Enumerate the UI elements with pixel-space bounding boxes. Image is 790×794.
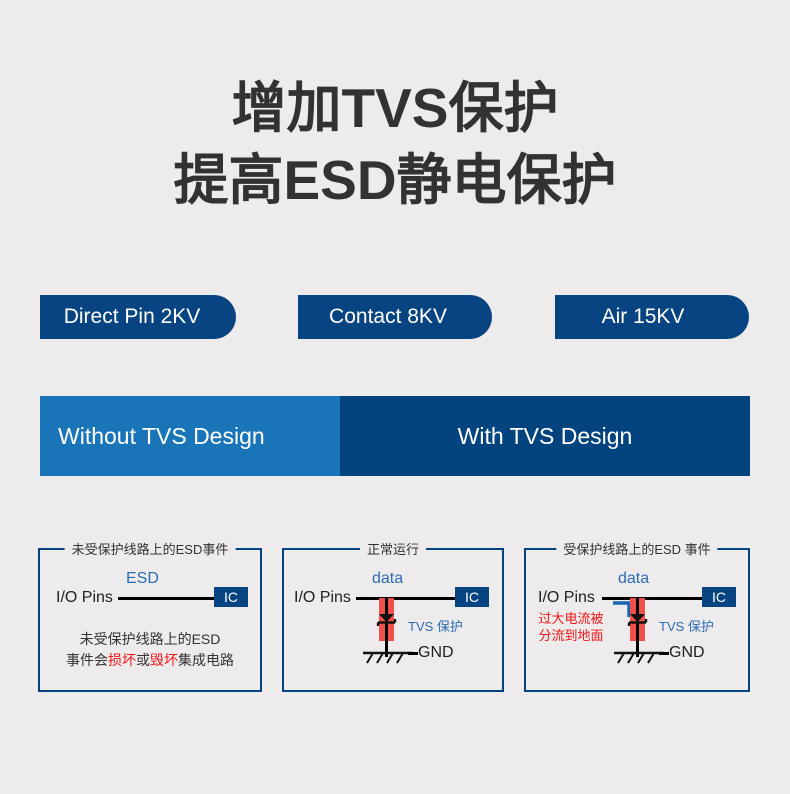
card-caption-line-1: 未受保护线路上的ESD: [40, 629, 260, 650]
io-pins-label: I/O Pins: [538, 589, 595, 607]
ground-icon: [361, 649, 415, 667]
diagram-card-protected: 受保护线路上的ESD 事件 I/O Pins data IC TVS 保护 过大…: [524, 548, 750, 692]
caption-text-a: 事件会: [66, 652, 108, 668]
title-line-1: 增加TVS保护: [0, 72, 790, 144]
tvs-protection-label: TVS 保护: [659, 616, 714, 635]
ground-lead-wire: [408, 652, 418, 655]
diagram-card-unprotected: 未受保护线路上的ESD事件 I/O Pins ESD IC 未受保护线路上的ES…: [38, 548, 262, 692]
title-line-2: 提高ESD静电保护: [0, 144, 790, 216]
spec-pill-air[interactable]: Air 15KV: [555, 295, 749, 339]
data-net-label: data: [618, 570, 649, 588]
data-net-label: data: [372, 570, 403, 588]
comparison-bar: Without TVS Design With TVS Design: [40, 396, 750, 476]
ic-box: IC: [455, 587, 489, 607]
diagram-card-normal: 正常运行 I/O Pins data IC TVS 保护 GND: [282, 548, 504, 692]
io-pins-label: I/O Pins: [294, 589, 351, 607]
spec-pill-row: Direct Pin 2KV Contact 8KV Air 15KV: [0, 295, 790, 339]
ic-box: IC: [214, 587, 248, 607]
diverted-current-note-line-2: 分流到地面: [532, 627, 610, 644]
gnd-label: GND: [418, 644, 454, 662]
zener-diode-icon: [627, 610, 648, 629]
spec-pill-contact[interactable]: Contact 8KV: [298, 295, 492, 339]
card-body: I/O Pins data IC TVS 保护 过大电流被 分流到地面 GND: [526, 550, 748, 690]
card-caption-line-2: 事件会损坏或毁坏集成电路: [40, 650, 260, 671]
spec-pill-direct-pin[interactable]: Direct Pin 2KV: [40, 295, 236, 339]
signal-wire: [356, 597, 455, 600]
card-body: I/O Pins ESD IC 未受保护线路上的ESD 事件会损坏或毁坏集成电路: [40, 550, 260, 690]
ground-lead-wire: [659, 652, 669, 655]
diverted-current-note: 过大电流被 分流到地面: [532, 610, 610, 644]
ground-icon: [612, 649, 666, 667]
gnd-label: GND: [669, 644, 705, 662]
tvs-protection-label: TVS 保护: [408, 616, 463, 635]
diverted-current-note-line-1: 过大电流被: [532, 610, 610, 627]
zener-diode-icon: [376, 610, 397, 629]
page-title: 增加TVS保护 提高ESD静电保护: [0, 72, 790, 216]
caption-text-red-2: 毁坏: [150, 652, 178, 668]
ic-box: IC: [702, 587, 736, 607]
comparison-with-tvs: With TVS Design: [340, 396, 750, 476]
esd-net-label: ESD: [126, 570, 159, 588]
caption-text-b: 或: [136, 652, 150, 668]
signal-wire: [602, 597, 702, 600]
caption-text-c: 集成电路: [178, 652, 234, 668]
caption-text-red-1: 损坏: [108, 652, 136, 668]
comparison-without-tvs: Without TVS Design: [40, 396, 340, 476]
card-body: I/O Pins data IC TVS 保护 GND: [284, 550, 502, 690]
io-pins-label: I/O Pins: [56, 589, 113, 607]
signal-wire: [118, 597, 214, 600]
